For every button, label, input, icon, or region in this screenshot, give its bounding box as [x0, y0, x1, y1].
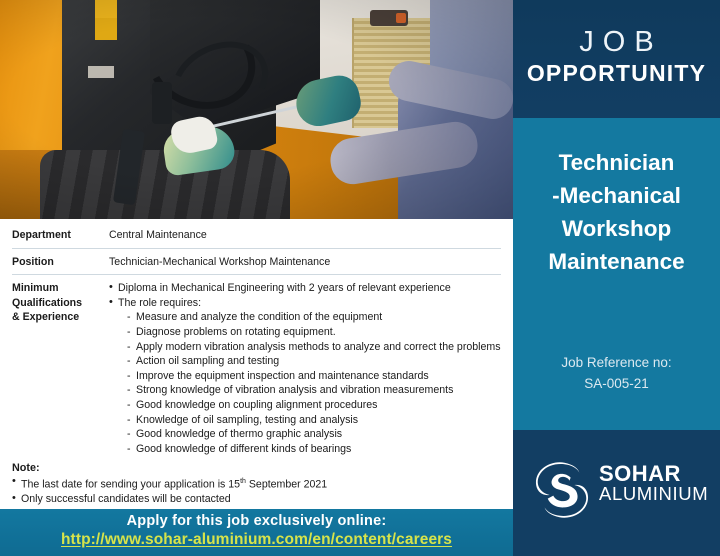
row-label: Minimum Qualifications & Experience	[12, 281, 109, 456]
qualification-bullets: Diploma in Mechanical Engineering with 2…	[109, 281, 501, 310]
right-panel-header-band	[513, 0, 720, 118]
list-item: Improve the equipment inspection and mai…	[127, 369, 501, 384]
job-title-line: Maintenance	[519, 245, 714, 278]
row-label: Department	[12, 228, 109, 243]
note-deadline-suffix: September 2021	[246, 479, 327, 491]
company-logo-text: SOHAR ALUMINIUM	[599, 463, 708, 504]
list-item: Good knowledge on coupling alignment pro…	[127, 398, 501, 413]
row-label: Position	[12, 255, 109, 270]
label-line: Qualifications	[12, 296, 109, 311]
list-item: Apply modern vibration analysis methods …	[127, 340, 501, 355]
list-item: Knowledge of oil sampling, testing and a…	[127, 413, 501, 428]
note-title: Note:	[12, 462, 482, 474]
label-line: Minimum	[12, 281, 109, 296]
job-word: JOB	[513, 26, 720, 59]
row-value: Diploma in Mechanical Engineering with 2…	[109, 281, 501, 456]
row-value: Central Maintenance	[109, 228, 501, 243]
job-title: Technician -Mechanical Workshop Maintena…	[519, 146, 714, 278]
photo-vignette	[0, 0, 513, 219]
hero-photo	[0, 0, 513, 219]
job-reference: Job Reference no: SA-005-21	[519, 352, 714, 394]
list-item: Measure and analyze the condition of the…	[127, 310, 501, 325]
table-row-department: Department Central Maintenance	[12, 222, 501, 249]
role-requirement-list: Measure and analyze the condition of the…	[109, 310, 501, 456]
job-title-line: Technician	[519, 146, 714, 179]
list-item: The role requires:	[109, 296, 501, 311]
list-item: Only successful candidates will be conta…	[12, 492, 482, 507]
row-value: Technician-Mechanical Workshop Maintenan…	[109, 255, 501, 270]
job-reference-label: Job Reference no:	[519, 352, 714, 373]
opportunity-word: OPPORTUNITY	[513, 60, 720, 87]
company-logo: SOHAR ALUMINIUM	[513, 455, 720, 525]
list-item: Diploma in Mechanical Engineering with 2…	[109, 281, 501, 296]
list-item: Good knowledge of different kinds of bea…	[127, 442, 501, 457]
label-line: & Experience	[12, 310, 109, 325]
job-reference-value: SA-005-21	[519, 373, 714, 394]
note-deadline-prefix: The last date for sending your applicati…	[21, 479, 240, 491]
note-list: The last date for sending your applicati…	[12, 475, 482, 507]
sohar-aluminium-s-mark-icon	[531, 459, 593, 521]
company-name-line1: SOHAR	[599, 463, 708, 485]
apply-headline: Apply for this job exclusively online:	[0, 513, 513, 529]
note-section: Note: The last date for sending your app…	[12, 462, 482, 507]
job-opportunity-poster: Department Central Maintenance Position …	[0, 0, 720, 556]
apply-bar: Apply for this job exclusively online: h…	[0, 509, 513, 556]
list-item: The last date for sending your applicati…	[12, 475, 482, 492]
details-table: Department Central Maintenance Position …	[12, 222, 501, 461]
list-item: Strong knowledge of vibration analysis a…	[127, 383, 501, 398]
job-title-line: Workshop	[519, 212, 714, 245]
company-name-line2: ALUMINIUM	[599, 485, 708, 504]
table-row-position: Position Technician-Mechanical Workshop …	[12, 249, 501, 276]
details-panel: Department Central Maintenance Position …	[0, 219, 513, 509]
apply-url-link[interactable]: http://www.sohar-aluminium.com/en/conten…	[0, 531, 513, 549]
list-item: Diagnose problems on rotating equipment.	[127, 325, 501, 340]
list-item: Good knowledge of thermo graphic analysi…	[127, 427, 501, 442]
right-panel: JOB OPPORTUNITY Technician -Mechanical W…	[513, 0, 720, 556]
job-title-line: -Mechanical	[519, 179, 714, 212]
table-row-qualifications: Minimum Qualifications & Experience Dipl…	[12, 275, 501, 461]
list-item: Action oil sampling and testing	[127, 354, 501, 369]
